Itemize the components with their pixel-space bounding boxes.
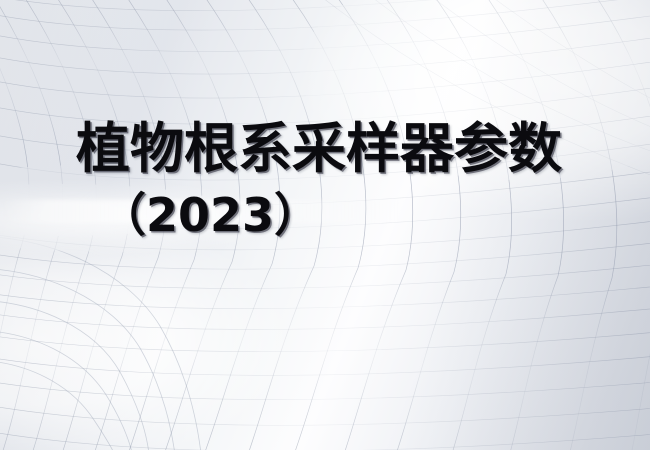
title-text-block: 植物根系采样器参数 （2023） (0, 118, 650, 242)
slide-title: 植物根系采样器参数 (0, 118, 650, 180)
title-slide: 植物根系采样器参数 （2023） (0, 0, 650, 450)
slide-subtitle-year: （2023） (0, 188, 650, 242)
